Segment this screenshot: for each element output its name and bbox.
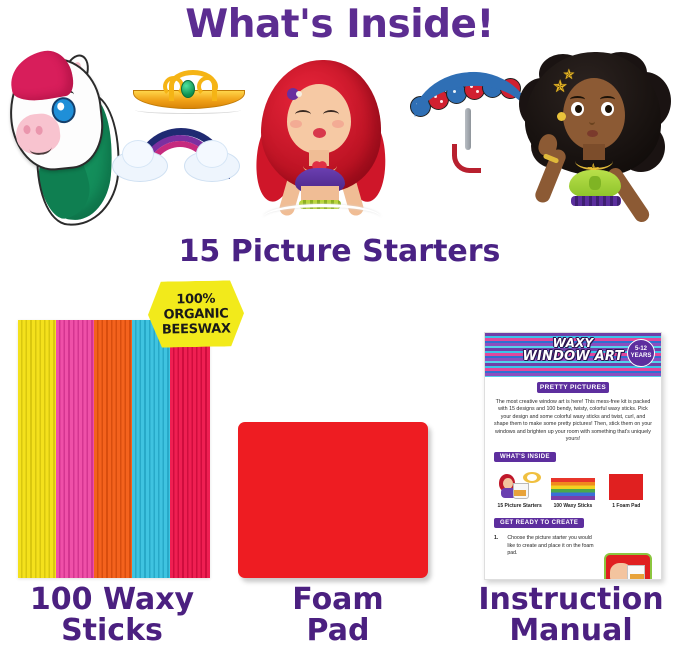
mermaid-wave — [263, 204, 381, 231]
page-title: What's Inside! — [0, 2, 679, 47]
wax-stick-band — [132, 320, 170, 578]
wax-stick-band — [94, 320, 132, 578]
mermaid-pupil — [605, 105, 612, 113]
mermaid-eye — [323, 110, 339, 119]
wax-stick-band — [56, 320, 94, 578]
mini-rainbow-sticks — [551, 478, 595, 500]
step-illustration — [604, 553, 652, 580]
product-contents-panel: What's Inside! — [0, 0, 679, 649]
mermaid-hair-flower — [287, 88, 299, 100]
age-range-badge: 5-12 YEARS — [627, 339, 655, 367]
sticker-curly-hair-mermaid: ✯ ✯ ✯ — [513, 52, 677, 234]
caption-foam-pad-line2: Pad — [238, 616, 438, 647]
waxy-sticks-thumb — [548, 470, 598, 500]
whats-inside-items: 15 Picture Starters 100 Waxy Sticks 1 Fo… — [493, 470, 653, 509]
sticker-gold-tiara — [133, 68, 243, 114]
caption-waxy-sticks: 100 Waxy Sticks — [12, 585, 212, 646]
step-number: 1. — [494, 535, 498, 541]
sticker-pony-head — [2, 52, 114, 222]
star-hair-clip-icon: ✯ — [563, 66, 575, 83]
sticker-red-hair-mermaid — [257, 58, 385, 230]
inside-item-label: 1 Foam Pad — [601, 503, 651, 509]
inside-item: 100 Waxy Sticks — [548, 470, 598, 509]
inside-item-label: 100 Waxy Sticks — [548, 503, 598, 509]
badge-line-1: 100% — [148, 291, 244, 308]
inside-item: 15 Picture Starters — [495, 470, 545, 509]
mermaid-mouth — [587, 130, 598, 137]
manual-subtitle: PRETTY PICTURES — [537, 382, 609, 393]
waxy-sticks-bundle — [18, 320, 210, 578]
sticker-polka-dot-umbrella — [408, 62, 528, 174]
organic-beeswax-badge: 100% ORGANIC BEESWAX — [147, 280, 244, 348]
cloud-right-top — [196, 140, 228, 168]
caption-manual-line1: Instruction — [463, 585, 679, 616]
mini-girl-illustration — [497, 470, 543, 500]
caption-waxy-sticks-line2: Sticks — [12, 616, 212, 647]
manual-header: WAXY WINDOW ART 5-12 YEARS — [485, 333, 661, 377]
manual-body-text: The most creative window art is here! Th… — [494, 399, 652, 443]
tiara-curl — [197, 76, 218, 97]
get-ready-heading: GET READY TO CREATE — [494, 518, 584, 528]
caption-instruction-manual: Instruction Manual — [463, 585, 679, 646]
age-badge-unit: YEARS — [631, 353, 652, 360]
mermaid-eye — [295, 110, 311, 119]
mini-foam-pad — [609, 474, 643, 500]
cloud-left-top — [122, 140, 154, 168]
foam-pad-thumb — [601, 470, 651, 500]
steps-section: 1. Choose the picture starter you would … — [485, 535, 661, 557]
caption-foam-pad-line1: Foam — [238, 585, 438, 616]
foam-pad — [238, 422, 428, 578]
pony-mouth — [29, 141, 52, 156]
mermaid-cheek — [332, 120, 344, 128]
sticker-rainbow-clouds — [110, 120, 240, 184]
mermaid-cheek — [290, 120, 302, 128]
mermaid-mouth — [313, 128, 326, 138]
mermaid-pupil — [575, 105, 582, 113]
inside-item-label: 15 Picture Starters — [495, 503, 545, 509]
caption-foam-pad: Foam Pad — [238, 585, 438, 646]
whats-inside-heading: WHAT'S INSIDE — [494, 452, 556, 462]
caption-waxy-sticks-line1: 100 Waxy — [12, 585, 212, 616]
caption-picture-starters: 15 Picture Starters — [0, 237, 679, 268]
badge-line-3: BEESWAX — [148, 321, 244, 338]
tiara-shadow — [135, 106, 241, 114]
wax-stick-band — [170, 320, 210, 578]
mermaid-bow-knot — [589, 176, 601, 190]
wax-stick-band — [18, 320, 56, 578]
picture-starters-thumb — [495, 470, 545, 500]
umbrella-handle — [452, 144, 481, 173]
caption-manual-line2: Manual — [463, 616, 679, 647]
badge-line-2: ORGANIC — [148, 306, 244, 323]
inside-item: 1 Foam Pad — [601, 470, 651, 509]
mermaid-belt — [571, 196, 621, 206]
age-badge-range: 5-12 — [635, 346, 647, 353]
instruction-manual-card: WAXY WINDOW ART 5-12 YEARS PRETTY PICTUR… — [484, 332, 662, 580]
mermaid-nose — [589, 118, 595, 125]
step-text: Choose the picture starter you would lik… — [507, 535, 599, 557]
mermaid-earring — [557, 112, 566, 121]
tiara-emerald-gem — [181, 80, 195, 98]
